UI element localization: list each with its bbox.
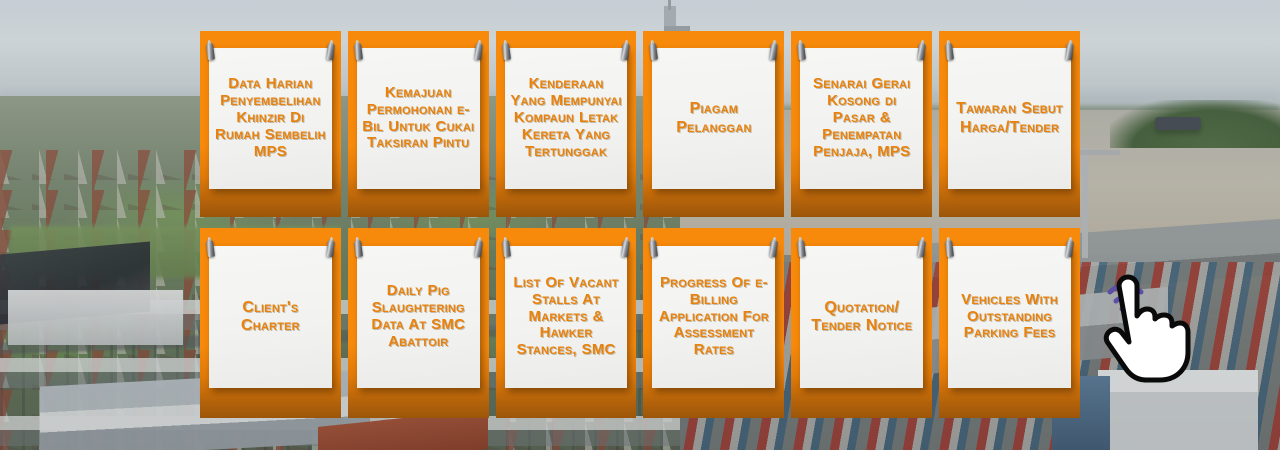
paper-clip-icon (945, 240, 954, 258)
tile-label: Progress Of e-Billing Application For As… (657, 275, 770, 360)
paper-sheet: Senarai Gerai Kosong di Pasar & Penempat… (800, 48, 923, 189)
paper-clip-icon (1065, 43, 1074, 61)
paper-clip-icon (621, 240, 630, 258)
paper-clip-icon (769, 240, 778, 258)
paper-clip-icon (326, 43, 335, 61)
port-office-building (1098, 370, 1258, 450)
tile-tawaran-sebut-harga-tender[interactable]: Tawaran Sebut Harga/Tender (939, 31, 1080, 217)
tile-list-of-vacant-stalls[interactable]: List Of Vacant Stalls At Markets & Hawke… (496, 228, 637, 418)
tile-label: List Of Vacant Stalls At Markets & Hawke… (510, 275, 623, 360)
paper-clip-icon (769, 43, 778, 61)
paper-clip-icon (474, 240, 483, 258)
port-crane-mast (1082, 148, 1088, 258)
tile-label: Piagam Pelanggan (657, 100, 770, 136)
paper-clip-icon (917, 43, 926, 61)
paper-clip-icon (917, 240, 926, 258)
tile-quotation-tender-notice[interactable]: Quotation/ Tender Notice (791, 228, 932, 418)
paper-clip-icon (326, 240, 335, 258)
paper-sheet: Data Harian Penyembelihan Khinzir Di Rum… (209, 48, 332, 189)
paper-sheet: Daily Pig Slaughtering Data At SMC Abatt… (357, 246, 480, 388)
tile-data-harian-penyembelihan-khinzir[interactable]: Data Harian Penyembelihan Khinzir Di Rum… (200, 31, 341, 217)
paper-clip-icon (354, 43, 363, 61)
tile-label: Client's Charter (214, 299, 327, 335)
service-tile-grid: Data Harian Penyembelihan Khinzir Di Rum… (200, 31, 1080, 418)
port-crane-arm (1080, 150, 1120, 155)
tile-label: Daily Pig Slaughtering Data At SMC Abatt… (362, 283, 475, 351)
paper-clip-icon (474, 43, 483, 61)
river-barge (1155, 117, 1201, 130)
paper-sheet: Piagam Pelanggan (652, 48, 775, 189)
paper-sheet: Tawaran Sebut Harga/Tender (948, 48, 1071, 189)
paper-clip-icon (797, 43, 806, 61)
paper-sheet: List Of Vacant Stalls At Markets & Hawke… (505, 246, 628, 388)
white-building (8, 290, 183, 345)
tile-label: Quotation/ Tender Notice (805, 299, 918, 335)
paper-clip-icon (502, 240, 511, 258)
paper-sheet: Kemajuan Permohonan e-Bil Untuk Cukai Ta… (357, 48, 480, 189)
paper-sheet: Client's Charter (209, 246, 332, 388)
tile-daily-pig-slaughtering-data[interactable]: Daily Pig Slaughtering Data At SMC Abatt… (348, 228, 489, 418)
tile-kenderaan-kompaun-letak-kereta[interactable]: Kenderaan Yang Mempunyai Kompaun Letak K… (496, 31, 637, 217)
tile-label: Vehicles With Outstanding Parking Fees (953, 292, 1066, 343)
paper-sheet: Kenderaan Yang Mempunyai Kompaun Letak K… (505, 48, 628, 189)
tile-vehicles-with-outstanding-parking-fees[interactable]: Vehicles With Outstanding Parking Fees (939, 228, 1080, 418)
paper-clip-icon (649, 240, 658, 258)
paper-clip-icon (502, 43, 511, 61)
tile-label: Kenderaan Yang Mempunyai Kompaun Letak K… (510, 76, 623, 161)
tile-label: Tawaran Sebut Harga/Tender (953, 100, 1066, 136)
tile-piagam-pelanggan[interactable]: Piagam Pelanggan (643, 31, 784, 217)
tile-label: Kemajuan Permohonan e-Bil Untuk Cukai Ta… (362, 85, 475, 153)
paper-clip-icon (621, 43, 630, 61)
tile-clients-charter[interactable]: Client's Charter (200, 228, 341, 418)
paper-sheet: Progress Of e-Billing Application For As… (652, 246, 775, 388)
paper-sheet: Vehicles With Outstanding Parking Fees (948, 246, 1071, 388)
tile-senarai-gerai-kosong[interactable]: Senarai Gerai Kosong di Pasar & Penempat… (791, 31, 932, 217)
tile-progress-of-e-billing-application[interactable]: Progress Of e-Billing Application For As… (643, 228, 784, 418)
paper-clip-icon (797, 240, 806, 258)
tile-label: Senarai Gerai Kosong di Pasar & Penempat… (805, 76, 918, 161)
paper-clip-icon (206, 43, 215, 61)
paper-clip-icon (649, 43, 658, 61)
radio-tower-mast (668, 0, 671, 10)
screen: Data Harian Penyembelihan Khinzir Di Rum… (0, 0, 1280, 450)
tile-kemajuan-permohonan-e-bil[interactable]: Kemajuan Permohonan e-Bil Untuk Cukai Ta… (348, 31, 489, 217)
paper-clip-icon (354, 240, 363, 258)
paper-clip-icon (206, 240, 215, 258)
paper-sheet: Quotation/ Tender Notice (800, 246, 923, 388)
paper-clip-icon (1065, 240, 1074, 258)
paper-clip-icon (945, 43, 954, 61)
tile-label: Data Harian Penyembelihan Khinzir Di Rum… (214, 76, 327, 161)
